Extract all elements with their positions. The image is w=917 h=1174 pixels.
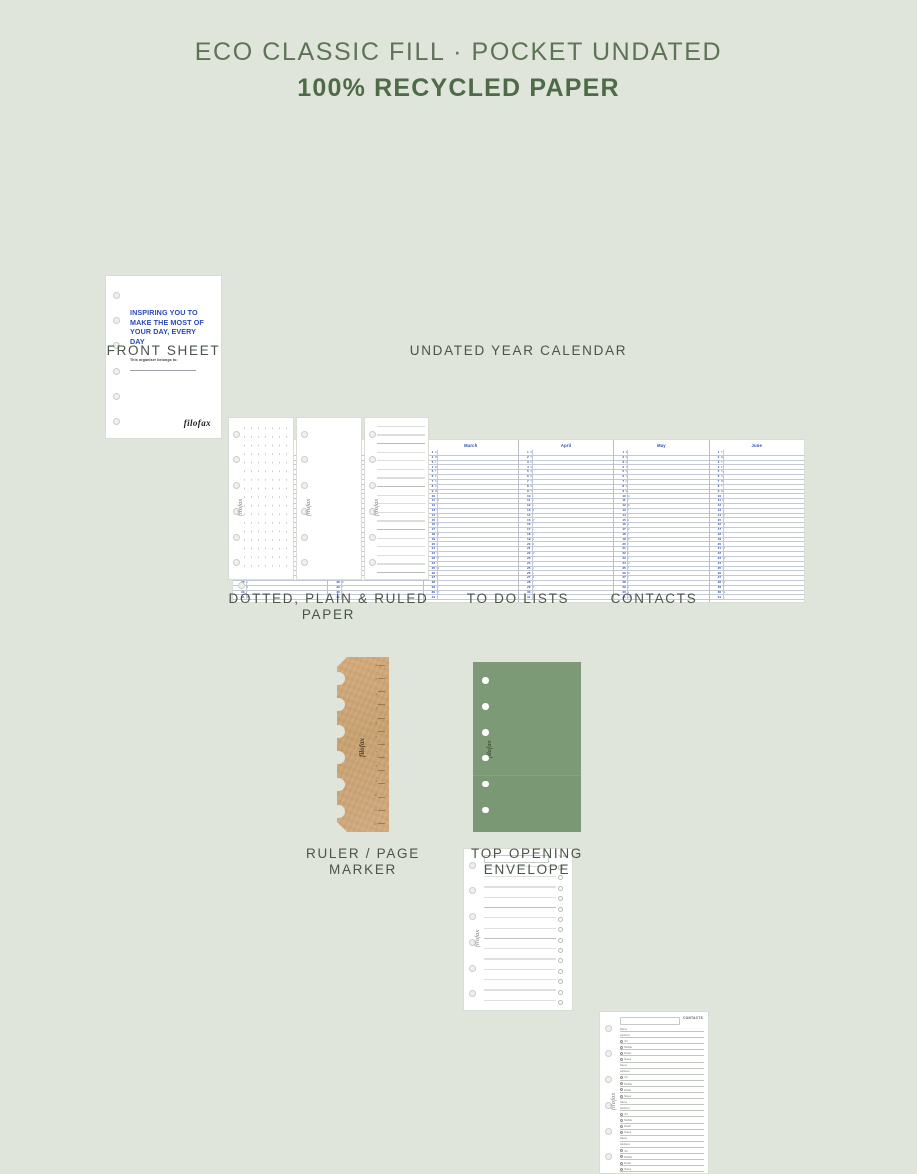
- ring-hole: [301, 482, 308, 489]
- ring-hole: [113, 393, 120, 400]
- calendar-day-number: 3: [519, 461, 529, 465]
- caption-envelope: TOP OPENING ENVELOPE: [457, 846, 597, 878]
- to-do-rule-lines: [484, 866, 556, 1005]
- to-do-checkbox[interactable]: [558, 907, 563, 912]
- calendar-day-number: 9: [614, 490, 624, 494]
- calendar-day-number: 25: [614, 567, 625, 571]
- calendar-month-column: May1S2S3M4T5W6T7F8S9S10M11T12W13T14F15S1…: [614, 440, 709, 602]
- ring-hole: [469, 990, 476, 997]
- ruler-tick: [378, 783, 385, 784]
- to-do-checkbox[interactable]: [558, 969, 563, 974]
- calendar-month-column: April1W2T3F4S5S6M7T8W9T10F11S12S13M14T15…: [519, 440, 614, 602]
- calendar-month-name: March: [424, 443, 518, 448]
- ruler-ring-notch: [332, 778, 345, 791]
- notes-icon: [620, 1058, 623, 1061]
- ring-hole: [482, 755, 489, 762]
- tel-icon: [620, 1113, 623, 1116]
- ring-hole: [369, 456, 376, 463]
- caption-year-calendar: UNDATED YEAR CALENDAR: [232, 343, 805, 359]
- email-icon: [620, 1162, 623, 1165]
- envelope-flap: [473, 775, 581, 832]
- contact-field-label: Tel: [624, 1150, 628, 1153]
- calendar-column-divider: [437, 450, 438, 600]
- calendar-day-number: 8: [614, 485, 624, 489]
- ring-hole: [469, 913, 476, 920]
- caption-ruler-line1: RULER / PAGE: [293, 846, 433, 862]
- ring-hole: [469, 965, 476, 972]
- ring-hole: [482, 807, 489, 814]
- contacts-entry-list: NameAddressTelMobileEmailNotesNameAddres…: [620, 1026, 704, 1170]
- contact-field-label: Email: [624, 1089, 631, 1092]
- contact-field-label: Address: [620, 1107, 630, 1110]
- contact-field-label: Mobile: [624, 1119, 632, 1122]
- ring-hole: [233, 456, 240, 463]
- filofax-logo: filofax: [306, 499, 312, 516]
- ring-hole: [482, 729, 489, 736]
- contact-field-label: Tel: [624, 1076, 628, 1079]
- email-icon: [620, 1125, 623, 1128]
- caption-ruler: RULER / PAGE MARKER: [293, 846, 433, 878]
- calendar-day-number: 24: [710, 562, 721, 566]
- filofax-logo: filofax: [475, 930, 481, 947]
- ruler-tick: [378, 731, 385, 732]
- caption-front-sheet: FRONT SHEET: [105, 343, 222, 359]
- ring-hole: [369, 482, 376, 489]
- contact-field-label: Notes: [624, 1095, 631, 1098]
- contact-field-label: Name: [620, 1101, 627, 1104]
- ring-hole: [113, 418, 120, 425]
- mobile-icon: [620, 1155, 623, 1158]
- plain-paper-panel: filofax: [296, 417, 362, 580]
- envelope-body: filofax: [473, 662, 581, 832]
- to-do-checkbox[interactable]: [558, 917, 563, 922]
- ring-hole: [605, 1153, 612, 1160]
- notes-icon: [620, 1168, 623, 1171]
- ruler-tick: [378, 757, 385, 758]
- filofax-logo: filofax: [184, 418, 211, 428]
- ring-hole: [369, 534, 376, 541]
- ruler-page-marker: 123456789101112 filofax: [337, 657, 389, 832]
- contact-field-label: Email: [624, 1162, 631, 1165]
- ruler-tick: [378, 810, 385, 811]
- ruler-tick: [378, 665, 385, 666]
- email-icon: [620, 1088, 623, 1091]
- ring-hole: [233, 559, 240, 566]
- filofax-logo: filofax: [358, 738, 366, 757]
- caption-papers: DOTTED, PLAIN & RULED PAPER: [208, 591, 449, 623]
- ruler-tick: [378, 678, 385, 679]
- contact-entry[interactable]: NameAddressTelMobileEmailNotes: [620, 1026, 704, 1063]
- dotted-paper-panel: filofax: [228, 417, 294, 580]
- product-infographic: ECO CLASSIC FILL · POCKET UNDATED 100% R…: [0, 0, 917, 963]
- ring-hole: [482, 781, 489, 788]
- contact-field-label: Email: [624, 1052, 631, 1055]
- ruler-tick: [378, 718, 385, 719]
- caption-envelope-line2: ENVELOPE: [457, 862, 597, 878]
- contact-field-label: Notes: [624, 1131, 631, 1134]
- page-header: ECO CLASSIC FILL · POCKET UNDATED 100% R…: [0, 0, 917, 103]
- to-do-checkbox[interactable]: [558, 1000, 563, 1005]
- mobile-icon: [620, 1046, 623, 1049]
- calendar-day-number: 14: [614, 514, 625, 518]
- calendar-day-number: 8: [710, 485, 720, 489]
- calendar-day-row[interactable]: 31T: [710, 595, 804, 600]
- ring-hole: [301, 431, 308, 438]
- calendar-day-rows: 1S2S3M4T5W6T7F8S9S10M11T12W13T14F15S16S1…: [614, 451, 708, 600]
- mobile-icon: [620, 1119, 623, 1122]
- to-do-checkbox[interactable]: [558, 886, 563, 891]
- ruler-tick: [378, 691, 385, 692]
- ruled-paper-panel: filofax: [364, 417, 429, 580]
- ruler-body: 123456789101112 filofax: [337, 657, 389, 832]
- calendar-day-number: 3: [614, 461, 624, 465]
- ruler-ring-notch: [332, 672, 345, 685]
- ring-hole: [233, 482, 240, 489]
- calendar-day-number: 24: [614, 562, 625, 566]
- ring-hole: [113, 368, 120, 375]
- to-do-checkbox[interactable]: [558, 927, 563, 932]
- contact-field-label: Address: [620, 1143, 630, 1146]
- front-sheet-headline: INSPIRING YOU TO MAKE THE MOST OF YOUR D…: [130, 308, 208, 346]
- ring-hole: [301, 456, 308, 463]
- email-icon: [620, 1052, 623, 1055]
- ring-hole: [301, 559, 308, 566]
- to-do-checkbox[interactable]: [558, 948, 563, 953]
- calendar-month-column: June1T2W3T4F5S6S7M8T9W10T11F12S13S14M15T…: [710, 440, 804, 602]
- contact-field-label: Tel: [624, 1113, 628, 1116]
- contact-field-label: Address: [620, 1070, 630, 1073]
- contacts-card: CONTACTS NameAddressTelMobileEmailNotesN…: [599, 1011, 709, 1174]
- calendar-day-number: 14: [710, 514, 721, 518]
- calendar-day-number: 24: [519, 562, 530, 566]
- calendar-day-rows: 1S2M3T4W5T6F7S8S9M10T11W12T13F14S15S16M1…: [424, 451, 518, 600]
- ring-hole: [369, 431, 376, 438]
- contact-field-label: Address: [620, 1034, 630, 1037]
- ruler-ring-notch: [332, 698, 345, 711]
- ring-hole: [233, 534, 240, 541]
- ring-hole: [113, 292, 120, 299]
- ring-hole: [605, 1050, 612, 1057]
- ruler-tick-marks: [373, 665, 385, 824]
- calendar-column-divider: [723, 450, 724, 600]
- contact-field-label: Mobile: [624, 1046, 632, 1049]
- calendar-day-number: 3: [710, 461, 720, 465]
- contacts-title-box: [620, 1017, 680, 1025]
- calendar-day-number: 14: [519, 514, 530, 518]
- to-do-checkbox[interactable]: [558, 990, 563, 995]
- ring-hole: [113, 317, 120, 324]
- top-opening-envelope: filofax: [473, 662, 581, 832]
- filofax-logo: filofax: [374, 499, 380, 516]
- calendar-day-number: 9: [519, 490, 529, 494]
- tel-icon: [620, 1076, 623, 1079]
- page-title-line2: 100% RECYCLED PAPER: [0, 74, 917, 103]
- contact-field-label: Name: [620, 1137, 627, 1140]
- ring-hole: [605, 1128, 612, 1135]
- calendar-day-number: 19: [519, 538, 530, 542]
- calendar-day-number: 19: [614, 538, 625, 542]
- calendar-column-divider: [532, 450, 533, 600]
- calendar-day-rows: 1T2W3T4F5S6S7M8T9W10T11F12S13S14M15T16W1…: [710, 451, 804, 600]
- contact-entry[interactable]: NameAddressTelMobileEmailNotes: [620, 1099, 704, 1136]
- page-title-line1: ECO CLASSIC FILL · POCKET UNDATED: [0, 38, 917, 67]
- dot-grid: [241, 424, 289, 573]
- contact-entry[interactable]: NameAddressTelMobileEmailNotes: [620, 1063, 704, 1100]
- ruler-tick: [378, 770, 385, 771]
- ring-hole: [369, 559, 376, 566]
- tel-icon: [620, 1040, 623, 1043]
- calendar-column-divider: [627, 450, 628, 600]
- caption-ruler-line2: MARKER: [293, 862, 433, 878]
- to-do-checkbox[interactable]: [558, 938, 563, 943]
- ruler-tick: [378, 823, 385, 824]
- mobile-icon: [620, 1082, 623, 1085]
- caption-to-do-lists: TO DO LISTS: [458, 591, 578, 607]
- caption-envelope-line1: TOP OPENING: [457, 846, 597, 862]
- tel-icon: [620, 1149, 623, 1152]
- contact-field-label: Notes: [624, 1058, 631, 1061]
- contact-field-label: Mobile: [624, 1083, 632, 1086]
- ring-hole: [469, 887, 476, 894]
- ruler-tick: [378, 704, 385, 705]
- calendar-month-name: April: [519, 443, 613, 448]
- to-do-checkbox[interactable]: [558, 896, 563, 901]
- contact-field-label: Name: [620, 1028, 627, 1031]
- calendar-day-rows: 1W2T3F4S5S6M7T8W9T10F11S12S13M14T15W16T1…: [519, 451, 613, 600]
- contact-field-label: Notes: [624, 1168, 631, 1171]
- ruler-tick: [378, 744, 385, 745]
- to-do-checkbox[interactable]: [558, 979, 563, 984]
- caption-contacts: CONTACTS: [594, 591, 714, 607]
- contact-field-label: Mobile: [624, 1156, 632, 1159]
- calendar-day-number: 25: [519, 567, 530, 571]
- calendar-month-name: May: [614, 443, 708, 448]
- contact-field-label: Tel: [624, 1040, 628, 1043]
- contacts-header-title: CONTACTS: [683, 1016, 703, 1020]
- calendar-day-number: 8: [519, 485, 529, 489]
- calendar-day-number: 19: [710, 538, 721, 542]
- ring-hole: [605, 1076, 612, 1083]
- front-sheet-write-line: [130, 370, 196, 371]
- ring-hole: [482, 677, 489, 684]
- paper-refills-group: filofax filofax filofax: [228, 417, 429, 580]
- contact-entry[interactable]: NameAddressTelMobileEmailNotes: [620, 1136, 704, 1173]
- ring-hole: [233, 431, 240, 438]
- contact-field-label: Name: [620, 1064, 627, 1067]
- calendar-month-name: June: [710, 443, 804, 448]
- ruler-ring-notch: [332, 725, 345, 738]
- ruler-ring-notch: [332, 805, 345, 818]
- to-do-checkbox-column: [558, 865, 568, 1005]
- calendar-day-number: 9: [710, 490, 720, 494]
- ring-hole: [605, 1025, 612, 1032]
- ring-hole: [301, 534, 308, 541]
- notes-icon: [620, 1095, 623, 1098]
- rule-lines: [377, 426, 425, 575]
- ruler-tick: [378, 797, 385, 798]
- contact-field-label: Email: [624, 1125, 631, 1128]
- notes-icon: [620, 1131, 623, 1134]
- filofax-logo: filofax: [238, 499, 244, 516]
- calendar-day-number: 25: [710, 567, 721, 571]
- ring-hole: [482, 703, 489, 710]
- calendar-month-column: March1S2M3T4W5T6F7S8S9M10T11W12T13F14S15…: [424, 440, 519, 602]
- filofax-logo: filofax: [611, 1093, 617, 1110]
